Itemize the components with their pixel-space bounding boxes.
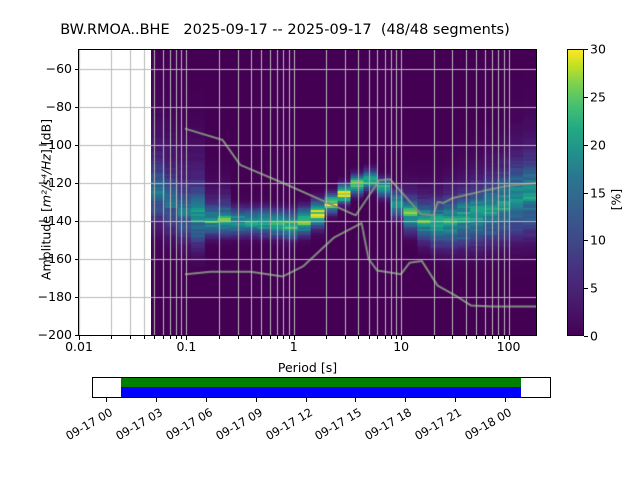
timeline-tick-mark bbox=[156, 398, 157, 402]
x-axis-minor-tick bbox=[485, 336, 486, 339]
colorbar-tick-mark bbox=[584, 145, 588, 146]
x-axis-minor-tick bbox=[492, 336, 493, 339]
y-axis-tick-mark bbox=[75, 297, 79, 298]
ppsd-plot-area[interactable] bbox=[78, 49, 537, 336]
psd-density-mesh bbox=[151, 50, 536, 335]
colorbar-tick-mark bbox=[584, 193, 588, 194]
y-axis-tick-mark bbox=[75, 335, 79, 336]
y-axis-tick-label: −120 bbox=[38, 175, 72, 190]
timeline-tick-mark bbox=[405, 398, 406, 402]
x-axis-tick-label: 10 bbox=[393, 339, 409, 354]
colorbar-label: [%] bbox=[609, 160, 624, 240]
x-axis-minor-tick bbox=[270, 336, 271, 339]
colorbar-tick-mark bbox=[584, 97, 588, 98]
x-axis-minor-tick bbox=[345, 336, 346, 339]
colorbar[interactable] bbox=[567, 49, 584, 336]
colorbar-tick-label: 10 bbox=[590, 233, 606, 248]
y-axis-tick-mark bbox=[75, 107, 79, 108]
data-coverage-timeline[interactable] bbox=[92, 377, 551, 398]
x-axis-minor-tick bbox=[289, 336, 290, 339]
colorbar-tick-label: 30 bbox=[590, 42, 606, 57]
x-axis-minor-tick bbox=[369, 336, 370, 339]
x-axis-minor-tick bbox=[219, 336, 220, 339]
y-axis-tick-label: −180 bbox=[38, 289, 72, 304]
y-axis-tick-label: −100 bbox=[38, 137, 72, 152]
y-axis-tick-mark bbox=[75, 221, 79, 222]
colorbar-tick-mark bbox=[584, 336, 588, 337]
x-axis-tick-label: 0.01 bbox=[65, 339, 93, 354]
x-axis-minor-tick bbox=[261, 336, 262, 339]
x-axis-minor-tick bbox=[238, 336, 239, 339]
colorbar-tick-label: 0 bbox=[590, 329, 598, 344]
x-axis-minor-tick bbox=[504, 336, 505, 339]
x-axis-minor-tick bbox=[251, 336, 252, 339]
timeline-tick-mark bbox=[306, 398, 307, 402]
x-axis-minor-tick bbox=[144, 336, 145, 339]
x-axis-minor-tick bbox=[111, 336, 112, 339]
x-axis-minor-tick bbox=[385, 336, 386, 339]
colorbar-tick-label: 20 bbox=[590, 137, 606, 152]
x-axis-minor-tick bbox=[130, 336, 131, 339]
colorbar-tick-label: 5 bbox=[590, 281, 598, 296]
x-axis-minor-tick bbox=[466, 336, 467, 339]
x-axis-minor-tick bbox=[391, 336, 392, 339]
x-axis-minor-tick bbox=[176, 336, 177, 339]
colorbar-tick-mark bbox=[584, 288, 588, 289]
x-axis-minor-tick bbox=[154, 336, 155, 339]
timeline-tick-mark bbox=[505, 398, 506, 402]
timeline-tick-mark bbox=[256, 398, 257, 402]
x-axis-minor-tick bbox=[283, 336, 284, 339]
x-axis-minor-tick bbox=[377, 336, 378, 339]
y-axis-tick-label: −140 bbox=[38, 213, 72, 228]
x-axis-tick-label: 0.1 bbox=[176, 339, 196, 354]
x-axis-label: Period [s] bbox=[78, 360, 537, 375]
timeline-tick-mark bbox=[455, 398, 456, 402]
y-axis-tick-label: −60 bbox=[46, 61, 72, 76]
coverage-times-band bbox=[121, 378, 521, 387]
y-axis-tick-mark bbox=[75, 145, 79, 146]
x-axis-minor-tick bbox=[434, 336, 435, 339]
x-axis-minor-tick bbox=[498, 336, 499, 339]
colorbar-tick-label: 15 bbox=[590, 185, 606, 200]
x-axis-tick-label: 100 bbox=[497, 339, 521, 354]
colorbar-tick-label: 25 bbox=[590, 89, 606, 104]
timeline-tick-mark bbox=[206, 398, 207, 402]
y-axis-tick-mark bbox=[75, 69, 79, 70]
timeline-tick-mark bbox=[355, 398, 356, 402]
x-axis-minor-tick bbox=[476, 336, 477, 339]
ppsd-figure: BW.RMOA..BHE 2025-09-17 -- 2025-09-17 (4… bbox=[0, 0, 640, 480]
timeline-tick-mark bbox=[106, 398, 107, 402]
x-axis-minor-tick bbox=[326, 336, 327, 339]
x-axis-minor-tick bbox=[163, 336, 164, 339]
x-axis-minor-tick bbox=[170, 336, 171, 339]
y-axis-tick-mark bbox=[75, 183, 79, 184]
page-title: BW.RMOA..BHE 2025-09-17 -- 2025-09-17 (4… bbox=[0, 22, 570, 38]
noise-model-curves bbox=[151, 50, 536, 335]
y-axis-tick-label: −160 bbox=[38, 251, 72, 266]
x-axis-tick-label: 1 bbox=[290, 339, 298, 354]
y-axis-tick-label: −80 bbox=[46, 99, 72, 114]
x-axis-minor-tick bbox=[452, 336, 453, 339]
coverage-data-band bbox=[121, 387, 521, 397]
colorbar-tick-mark bbox=[584, 49, 588, 50]
x-axis-minor-tick bbox=[181, 336, 182, 339]
y-axis-tick-mark bbox=[75, 259, 79, 260]
x-axis-minor-tick bbox=[396, 336, 397, 339]
colorbar-tick-mark bbox=[584, 240, 588, 241]
x-axis-minor-tick bbox=[277, 336, 278, 339]
x-axis-minor-tick bbox=[358, 336, 359, 339]
